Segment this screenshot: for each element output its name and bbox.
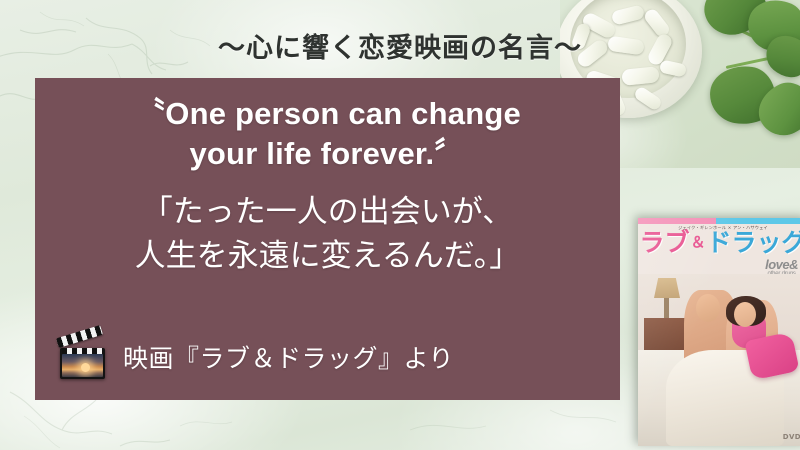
japanese-quote-line-1: 「たった一人の出会いが、: [61, 190, 594, 234]
clapperboard-icon: [57, 334, 109, 380]
quote-card: 〝One person can change your life forever…: [35, 78, 620, 400]
japanese-quote-line-2: 人生を永遠に変えるんだ。」: [61, 234, 594, 278]
english-quote: 〝One person can change your life forever…: [35, 94, 620, 173]
attribution-label: 映画『ラブ＆ドラッグ』より: [123, 339, 454, 375]
english-quote-line-1: 〝One person can change: [61, 94, 594, 134]
movie-poster: ジェイク・ギレンホール × アン・ハサウェイ ラブ＆ドラッグ love& oth…: [638, 218, 800, 446]
attribution: 映画『ラブ＆ドラッグ』より: [57, 334, 454, 380]
english-quote-line-2: your life forever.〞: [61, 134, 594, 174]
slide-canvas: 〜心に響く恋愛映画の名言〜 〝One person can change you…: [0, 0, 800, 450]
page-title: 〜心に響く恋愛映画の名言〜: [0, 26, 800, 65]
japanese-quote: 「たった一人の出会いが、 人生を永遠に変えるんだ。」: [35, 190, 620, 278]
